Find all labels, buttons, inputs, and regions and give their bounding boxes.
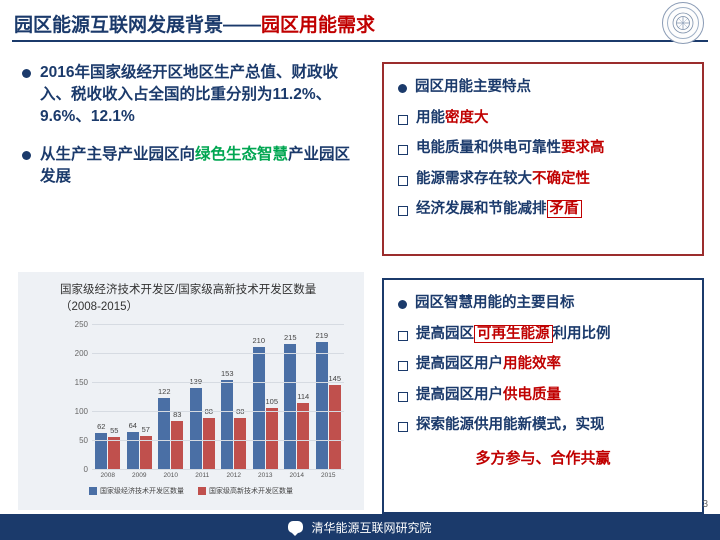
list-item-label: 电能质量和供电可靠性要求高: [416, 139, 605, 159]
list-item: 提高园区用户用能效率: [398, 355, 690, 375]
chart-bar-group: 13988: [189, 388, 215, 469]
chart-bar: 219: [316, 342, 328, 469]
highlight-text: 密度大: [445, 110, 489, 126]
title-divider: [12, 40, 708, 42]
chart-bar: 88: [203, 418, 215, 469]
chart-bar: 105: [266, 408, 278, 469]
plain-text: 能源需求存在较大: [416, 171, 532, 187]
chart-bar-value: 219: [315, 331, 328, 340]
chart-legend: 国家级经济技术开发区数量国家级高新技术开发区数量: [18, 486, 364, 496]
list-item: 提高园区用户供电质量: [398, 386, 690, 406]
chart-plot-area: 6255645712283139881538821010521511421914…: [58, 324, 344, 470]
left-bullet-1: 2016年国家级经开区地区生产总值、财政收入、税收收入占全国的比重分别为11.2…: [40, 62, 352, 128]
chart-bar-group: 6255: [95, 433, 121, 469]
list-item: 探索能源供用能新模式，实现: [398, 416, 690, 436]
chart-bar-value: 210: [252, 336, 265, 345]
chart-x-tick-label: 2010: [154, 472, 188, 479]
bullet-dot-icon: [398, 300, 407, 309]
list-item-label: 提高园区可再生能源利用比例: [416, 325, 611, 345]
chart-y-tick-label: 250: [56, 320, 88, 329]
chart-bar-value: 57: [142, 425, 150, 434]
chart-bar: 62: [95, 433, 107, 469]
list-item-label: 园区用能主要特点: [415, 78, 531, 98]
chart-gridline: [92, 353, 344, 354]
chart-bar-group: 219145: [315, 342, 341, 469]
list-item: 电能质量和供电可靠性要求高: [398, 139, 690, 159]
chart-bar-value: 153: [221, 369, 234, 378]
page-title: 园区能源互联网发展背景——园区用能需求: [14, 10, 375, 37]
list-item: 能源需求存在较大不确定性: [398, 170, 690, 190]
chart-bar: 210: [253, 347, 265, 469]
logo-inner-ring: [667, 7, 699, 39]
list-item: 园区用能主要特点: [398, 78, 690, 98]
list-item: 从生产主导产业园区向绿色生态智慧产业园区发展: [22, 144, 352, 188]
page-title-main: 园区能源互联网发展背景——: [14, 15, 261, 36]
bullet-dot-icon: [22, 151, 31, 160]
chart-bar-value: 55: [110, 426, 118, 435]
chart-bar: 122: [158, 398, 170, 469]
chart-x-tick-labels: 20082009201020112012201320142015: [92, 470, 344, 484]
goals-list: 园区智慧用能的主要目标提高园区可再生能源利用比例提高园区用户用能效率提高园区用户…: [384, 280, 702, 436]
page-title-accent: 园区用能需求: [261, 15, 375, 36]
bullet-square-icon: [398, 115, 408, 125]
plain-text: 提高园区用户: [416, 387, 503, 403]
chart-x-tick-label: 2013: [248, 472, 282, 479]
chart-legend-swatch: [198, 487, 206, 495]
plain-text: 电能质量和供电可靠性: [416, 140, 561, 156]
chart-legend-label: 国家级经济技术开发区数量: [100, 486, 184, 496]
highlight-text: 可再生能源: [474, 325, 553, 343]
slide-header: 园区能源互联网发展背景——园区用能需求: [0, 0, 720, 46]
list-item-label: 提高园区用户用能效率: [416, 355, 561, 375]
chart-bar-value: 215: [284, 333, 297, 342]
list-item-label: 用能密度大: [416, 109, 489, 129]
list-item-label: 提高园区用户供电质量: [416, 386, 561, 406]
chart-bar: 114: [297, 403, 309, 469]
list-item: 提高园区可再生能源利用比例: [398, 325, 690, 345]
left-bullet-list: 2016年国家级经开区地区生产总值、财政收入、税收收入占全国的比重分别为11.2…: [22, 62, 352, 198]
goals-emphasis: 多方参与、合作共赢: [384, 447, 702, 468]
chart-bar-value: 122: [158, 387, 171, 396]
plain-text: 利用比例: [553, 326, 611, 342]
chart-bar-group: 12283: [158, 398, 184, 469]
list-item: 2016年国家级经开区地区生产总值、财政收入、税收收入占全国的比重分别为11.2…: [22, 62, 352, 128]
plain-text: 提高园区用户: [416, 356, 503, 372]
bullet-square-icon: [398, 331, 408, 341]
chart-x-tick-label: 2015: [311, 472, 345, 479]
list-item: 园区智慧用能的主要目标: [398, 294, 690, 314]
list-item-label: 能源需求存在较大不确定性: [416, 170, 590, 190]
chart-gridline: [92, 411, 344, 412]
highlight-text: 供电质量: [503, 387, 561, 403]
footer-text: 清华能源互联网研究院: [311, 519, 431, 536]
bullet-square-icon: [398, 145, 408, 155]
chart-bar-value: 62: [97, 422, 105, 431]
bar-chart: 国家级经济技术开发区/国家级高新技术开发区数量（2008-2015） 62556…: [18, 272, 364, 510]
chart-bar: 64: [127, 432, 139, 469]
list-item: 用能密度大: [398, 109, 690, 129]
chart-bar: 55: [108, 437, 120, 469]
left-bullet-2-green: 绿色生: [195, 146, 242, 163]
chart-bar: 153: [221, 380, 233, 469]
chart-bar-group: 6457: [126, 432, 152, 469]
chart-bar: 145: [329, 385, 341, 469]
highlight-text: 矛盾: [547, 200, 582, 218]
list-item: 经济发展和节能减排矛盾: [398, 200, 690, 220]
chart-bar-group: 15388: [221, 380, 247, 469]
chart-gridline: [92, 382, 344, 383]
plain-text: 经济发展和节能减排: [416, 201, 547, 217]
bullet-square-icon: [398, 361, 408, 371]
left-bullet-2-green2: 态智慧: [242, 146, 289, 163]
highlight-text: 不确定性: [532, 171, 590, 187]
footer-bar: 清华能源互联网研究院: [0, 514, 720, 540]
chart-bars: 6255645712283139881538821010521511421914…: [92, 324, 344, 469]
list-item-label: 经济发展和节能减排矛盾: [416, 200, 582, 220]
plain-text: 园区用能主要特点: [415, 79, 531, 95]
chart-gridline: [92, 440, 344, 441]
chart-bar: 139: [190, 388, 202, 469]
chart-y-tick-label: 50: [56, 436, 88, 445]
bullet-square-icon: [398, 206, 408, 216]
chart-x-tick-label: 2014: [280, 472, 314, 479]
plain-text: 探索能源供用能新模式，实现: [416, 417, 605, 433]
chart-x-tick-label: 2008: [91, 472, 125, 479]
features-list: 园区用能主要特点用能密度大电能质量和供电可靠性要求高能源需求存在较大不确定性经济…: [384, 64, 702, 220]
bullet-dot-icon: [398, 84, 407, 93]
bullet-dot-icon: [22, 69, 31, 78]
chart-legend-swatch: [89, 487, 97, 495]
highlight-text: 要求高: [561, 140, 605, 156]
chart-bar-group: 215114: [284, 344, 310, 469]
bullet-square-icon: [398, 392, 408, 402]
chart-title: 国家级经济技术开发区/国家级高新技术开发区数量（2008-2015）: [60, 282, 350, 315]
chart-y-tick-label: 100: [56, 407, 88, 416]
plain-text: 园区智慧用能的主要目标: [415, 295, 575, 311]
left-bullet-2-pre: 从生产主导产业园区向: [40, 146, 195, 163]
chart-x-tick-label: 2011: [185, 472, 219, 479]
chart-legend-item: 国家级高新技术开发区数量: [198, 486, 293, 496]
chart-x-tick-label: 2009: [122, 472, 156, 479]
chart-bar-group: 210105: [252, 347, 278, 469]
chart-bar: 83: [171, 421, 183, 469]
features-panel: 园区用能主要特点用能密度大电能质量和供电可靠性要求高能源需求存在较大不确定性经济…: [382, 62, 704, 256]
chart-bar: 88: [234, 418, 246, 469]
chart-x-tick-label: 2012: [217, 472, 251, 479]
list-item-label: 探索能源供用能新模式，实现: [416, 416, 605, 436]
chart-y-tick-label: 150: [56, 378, 88, 387]
wechat-icon: [288, 521, 303, 533]
page-number: 3: [702, 499, 708, 510]
chart-y-tick-label: 0: [56, 465, 88, 474]
plain-text: 提高园区: [416, 326, 474, 342]
university-logo-icon: [662, 2, 704, 44]
left-bullet-2: 从生产主导产业园区向绿色生态智慧产业园区发展: [40, 144, 352, 188]
highlight-text: 用能效率: [503, 356, 561, 372]
slide: 园区能源互联网发展背景——园区用能需求 2016年国家级经开区地区生产总值、财政…: [0, 0, 720, 540]
chart-bar-value: 64: [129, 421, 137, 430]
chart-legend-label: 国家级高新技术开发区数量: [209, 486, 293, 496]
chart-bar: 215: [284, 344, 296, 469]
chart-gridline: [92, 324, 344, 325]
goals-panel: 园区智慧用能的主要目标提高园区可再生能源利用比例提高园区用户用能效率提高园区用户…: [382, 278, 704, 514]
chart-bar-value: 105: [265, 397, 278, 406]
list-item-label: 园区智慧用能的主要目标: [415, 294, 575, 314]
chart-y-tick-label: 200: [56, 349, 88, 358]
plain-text: 用能: [416, 110, 445, 126]
bullet-square-icon: [398, 176, 408, 186]
chart-bar-value: 114: [297, 392, 309, 401]
chart-legend-item: 国家级经济技术开发区数量: [89, 486, 184, 496]
bullet-square-icon: [398, 422, 408, 432]
